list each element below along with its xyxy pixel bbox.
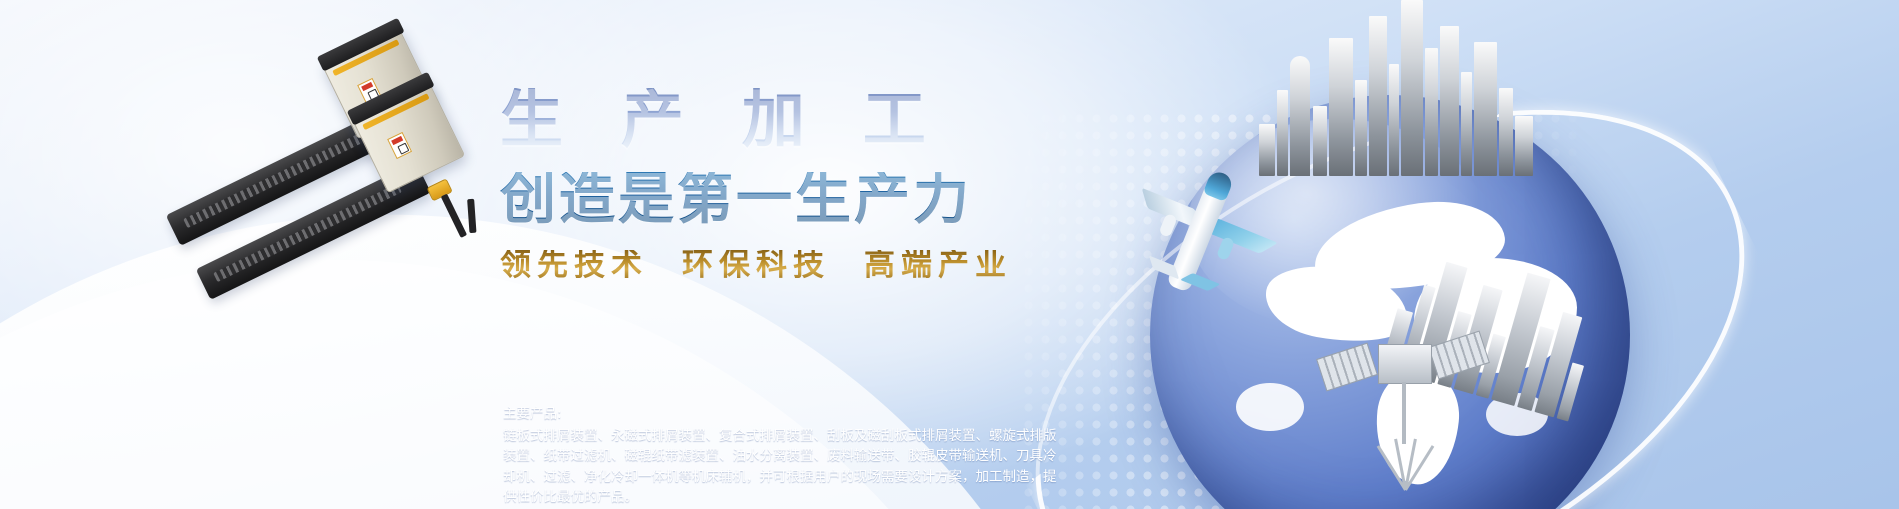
tagline-item-1: 领先技术 xyxy=(500,247,648,283)
banner-headline: 生 产 加 工 xyxy=(500,88,944,151)
satellite-legs xyxy=(1370,438,1440,490)
product-line: 链板式排屑装置、永磁式排屑装置、复合式排屑装置、刮板及磁刮板式排屑装置、螺旋式排… xyxy=(503,426,1143,447)
chip-conveyor-machines-graphic xyxy=(150,125,490,345)
product-line: 供性价比最优的产品。 xyxy=(503,487,1143,508)
satellite-graphic xyxy=(1320,330,1490,505)
satellite-mast xyxy=(1402,382,1406,444)
conveyor-support-leg xyxy=(441,194,467,238)
city-skyline-graphic xyxy=(1255,0,1545,176)
airplane-tail-left xyxy=(1149,255,1179,279)
tagline-item-3: 高端产业 xyxy=(864,247,1012,283)
warning-label xyxy=(387,132,412,159)
product-line: 却机、过滤、净化冷却一体机等机床辅机，并可根据用户的现场需要设计方案，加工制造，… xyxy=(503,467,1143,488)
airplane-engine-right xyxy=(1216,236,1235,261)
tagline-item-2: 环保科技 xyxy=(682,247,830,283)
banner-subheadline: 创造是第一生产力 xyxy=(500,172,972,228)
promotional-banner: 生 产 加 工 创造是第一生产力 领先技术环保科技高端产业 主要产品: 链板式排… xyxy=(0,0,1899,509)
product-intro-label: 主要产品: xyxy=(503,404,1143,425)
conveyor-support-leg xyxy=(467,199,476,233)
satellite-panel-left xyxy=(1316,342,1378,391)
satellite-panel-right xyxy=(1428,330,1490,379)
banner-taglines: 领先技术环保科技高端产业 xyxy=(500,250,1012,281)
product-line: 装置、纸带过滤机、磁辊纸带滤装置、油水分离装置、废料输送带、胶辊皮带输送机、刀具… xyxy=(503,446,1143,467)
airplane-engine-left xyxy=(1158,213,1177,238)
product-description: 主要产品: 链板式排屑装置、永磁式排屑装置、复合式排屑装置、刮板及磁刮板式排屑装… xyxy=(503,404,1143,508)
satellite-body xyxy=(1378,344,1432,384)
